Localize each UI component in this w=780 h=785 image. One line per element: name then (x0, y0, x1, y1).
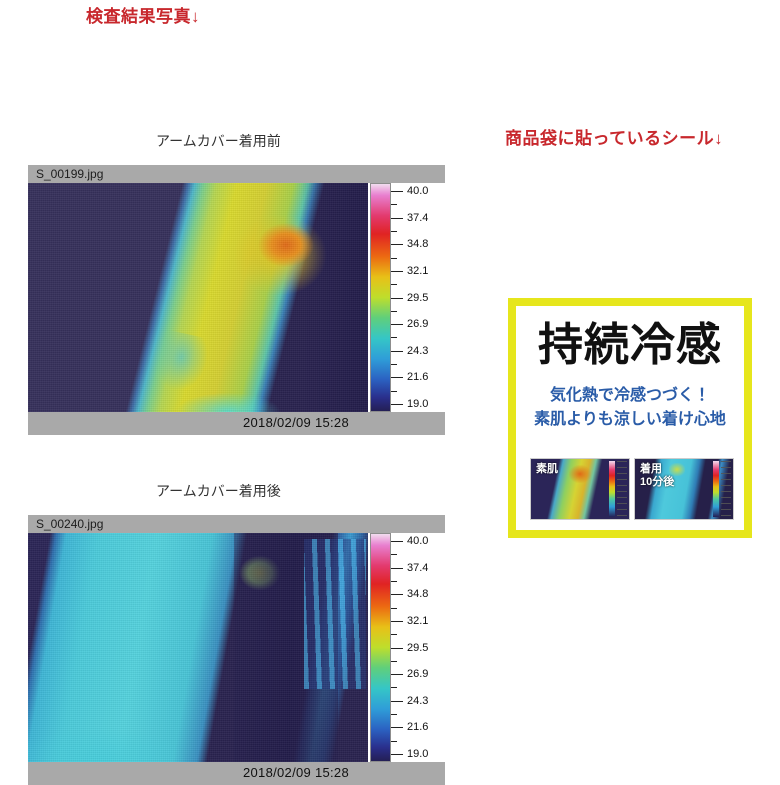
colorbar-tick-major (391, 621, 403, 622)
colorbar-temperature-label: 37.4 (407, 212, 428, 224)
colorbar-tick-minor (391, 554, 397, 555)
photos-section-heading: 検査結果写真↓ (86, 8, 200, 25)
colorbar-tick-major (391, 674, 403, 675)
colorbar-tick-major (391, 377, 403, 378)
colorbar-ticks: 40.037.434.832.129.526.924.321.619.0 (391, 183, 445, 412)
thermogram-statusbar: 2018/02/09 15:28 (28, 412, 445, 435)
colorbar-tick-major (391, 754, 403, 755)
colorbar-tick-major (391, 218, 403, 219)
thermogram-timestamp-before: 2018/02/09 15:28 (243, 415, 349, 430)
colorbar-tick-minor (391, 364, 397, 365)
colorbar-temperature-label: 26.9 (407, 318, 428, 330)
colorbar-tick-minor (391, 231, 397, 232)
colorbar-tick-minor (391, 337, 397, 338)
colorbar-tick-minor (391, 311, 397, 312)
colorbar-ticks: 40.037.434.832.129.526.924.321.619.0 (391, 533, 445, 762)
colorbar-tick-minor (391, 741, 397, 742)
colorbar-gradient (370, 183, 391, 412)
colorbar-tick-major (391, 594, 403, 595)
thermogram-titlebar: S_00199.jpg (28, 165, 445, 184)
sticker-section-heading: 商品袋に貼っているシール↓ (505, 130, 723, 147)
colorbar-temperature-label: 29.5 (407, 292, 428, 304)
colorbar-temperature-label: 19.0 (407, 398, 428, 410)
thermal-background-shadow (302, 183, 368, 412)
mini-colorbar-ticks (617, 461, 627, 517)
colorbar-temperature-label: 26.9 (407, 668, 428, 680)
thermogram-filename-after: S_00240.jpg (36, 517, 103, 531)
colorbar-tick-minor (391, 687, 397, 688)
colorbar-temperature-label: 24.3 (407, 345, 428, 357)
colorbar-tick-major (391, 351, 403, 352)
product-sticker: 持続冷感 気化熱で冷感つづく！ 素肌よりも涼しい着け心地 素肌 着用 10分後 (508, 298, 752, 538)
colorbar-temperature-label: 32.1 (407, 615, 428, 627)
colorbar-tick-major (391, 324, 403, 325)
thermal-hand-region (304, 539, 366, 689)
colorbar-temperature-label: 24.3 (407, 695, 428, 707)
colorbar-gradient (370, 533, 391, 762)
colorbar-tick-major (391, 404, 403, 405)
thermal-cool-fringe (168, 370, 288, 412)
colorbar-tick-minor (391, 608, 397, 609)
sticker-mini-thermogram-worn: 着用 10分後 (634, 458, 734, 520)
colorbar-tick-minor (391, 284, 397, 285)
mini-thermal-hotspot (569, 465, 591, 483)
thermal-image-after (28, 533, 368, 762)
colorbar-tick-major (391, 191, 403, 192)
mini-thermogram-label-bare-skin: 素肌 (536, 463, 558, 476)
colorbar-tick-major (391, 568, 403, 569)
thermogram-titlebar: S_00240.jpg (28, 515, 445, 534)
mini-colorbar-ticks (721, 461, 731, 517)
colorbar-temperature-label: 37.4 (407, 562, 428, 574)
colorbar-tick-major (391, 701, 403, 702)
colorbar-temperature-label: 40.0 (407, 185, 428, 197)
sticker-mini-thermogram-bare-skin: 素肌 (530, 458, 630, 520)
colorbar-tick-minor (391, 661, 397, 662)
colorbar-tick-major (391, 648, 403, 649)
colorbar-temperature-label: 21.6 (407, 371, 428, 383)
colorbar-temperature-label: 40.0 (407, 535, 428, 547)
product-sticker-inner: 持続冷感 気化熱で冷感つづく！ 素肌よりも涼しい着け心地 素肌 着用 10分後 (516, 306, 744, 530)
thermal-image-before (28, 183, 368, 412)
colorbar-tick-minor (391, 391, 397, 392)
thermogram-caption-before: アームカバー着用前 (156, 134, 281, 148)
colorbar-tick-minor (391, 634, 397, 635)
sticker-subtitle-line-1: 気化熱で冷感つづく！ (516, 388, 744, 404)
thermogram-filename-before: S_00199.jpg (36, 167, 103, 181)
temperature-colorbar-after: 40.037.434.832.129.526.924.321.619.0 (368, 533, 445, 762)
colorbar-tick-major (391, 727, 403, 728)
colorbar-temperature-label: 34.8 (407, 588, 428, 600)
thermogram-timestamp-after: 2018/02/09 15:28 (243, 765, 349, 780)
colorbar-temperature-label: 29.5 (407, 642, 428, 654)
colorbar-tick-major (391, 244, 403, 245)
mini-colorbar (609, 461, 615, 517)
colorbar-temperature-label: 34.8 (407, 238, 428, 250)
thermogram-panel-before: S_00199.jpg 40.037.434.832.129.526.924.3… (28, 165, 445, 435)
temperature-colorbar-before: 40.037.434.832.129.526.924.321.619.0 (368, 183, 445, 412)
thermal-cool-fringe (28, 692, 218, 762)
colorbar-tick-major (391, 298, 403, 299)
mini-colorbar (713, 461, 719, 517)
colorbar-temperature-label: 21.6 (407, 721, 428, 733)
colorbar-tick-major (391, 271, 403, 272)
mini-thermogram-label-worn: 着用 10分後 (640, 463, 674, 488)
colorbar-tick-minor (391, 258, 397, 259)
sticker-title: 持続冷感 (516, 322, 744, 367)
colorbar-temperature-label: 19.0 (407, 748, 428, 760)
sticker-subtitle-line-2: 素肌よりも涼しい着け心地 (516, 412, 744, 428)
thermogram-panel-after: S_00240.jpg 40.037.434.832.129.526.924.3… (28, 515, 445, 785)
colorbar-tick-minor (391, 714, 397, 715)
colorbar-tick-minor (391, 581, 397, 582)
colorbar-tick-major (391, 541, 403, 542)
colorbar-temperature-label: 32.1 (407, 265, 428, 277)
thermogram-statusbar: 2018/02/09 15:28 (28, 762, 445, 785)
thermogram-caption-after: アームカバー着用後 (156, 484, 281, 498)
colorbar-tick-minor (391, 204, 397, 205)
